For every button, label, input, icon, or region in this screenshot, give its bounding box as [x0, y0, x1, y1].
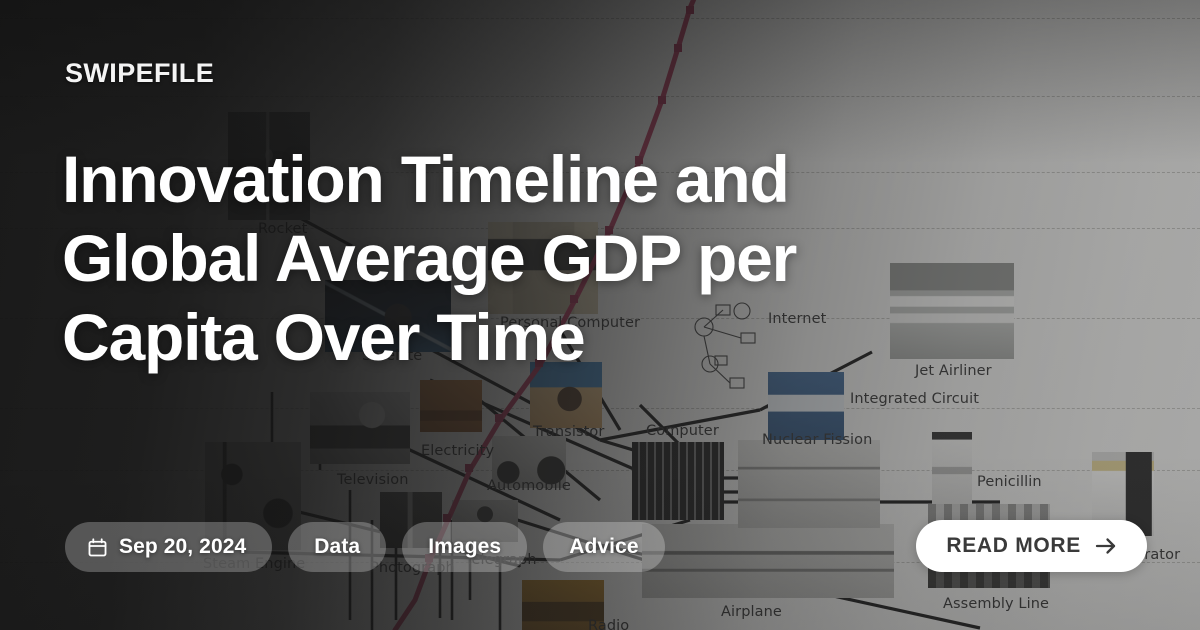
tag-data[interactable]: Data — [288, 522, 386, 572]
date-text: Sep 20, 2024 — [119, 535, 246, 559]
tag-images[interactable]: Images — [402, 522, 527, 572]
meta-row: Sep 20, 2024 Data Images Advice — [65, 522, 665, 572]
tag-label: Images — [428, 535, 501, 559]
brand-logo[interactable]: SWIPEFILE — [65, 58, 214, 89]
page-title: Innovation Timeline and Global Average G… — [62, 140, 902, 377]
og-card: Steam Engine Photograph Telegraph Radio … — [0, 0, 1200, 630]
calendar-icon — [87, 537, 108, 558]
tag-advice[interactable]: Advice — [543, 522, 664, 572]
date-badge: Sep 20, 2024 — [65, 522, 272, 572]
tag-label: Data — [314, 535, 360, 559]
card-content: SWIPEFILE Innovation Timeline and Global… — [0, 0, 1200, 630]
tag-label: Advice — [569, 535, 638, 559]
read-more-button[interactable]: READ MORE — [916, 520, 1147, 572]
read-more-label: READ MORE — [946, 534, 1081, 558]
arrow-right-icon — [1095, 537, 1117, 555]
